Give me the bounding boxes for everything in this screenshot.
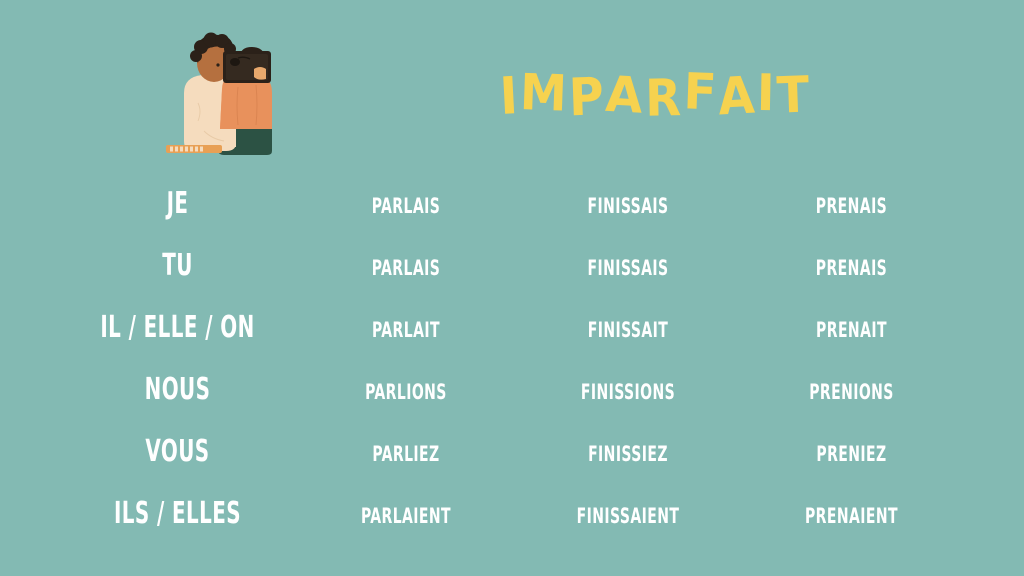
pronoun-cell: ILS / ELLES — [81, 496, 274, 531]
tablet-screen-shape-a — [230, 58, 240, 66]
parler-cell: parlais — [315, 248, 497, 283]
finir-cell: finissais — [537, 186, 719, 221]
prendre-cell: prenaient — [759, 496, 944, 531]
right-hand — [254, 67, 266, 80]
finir-cell: finissais — [537, 248, 719, 283]
two-people-with-tablet-illustration — [160, 25, 282, 157]
illustration-svg — [160, 25, 282, 157]
parler-cell: parlions — [315, 372, 497, 407]
prendre-cell: prenait — [759, 310, 944, 345]
hair-curl-e — [190, 50, 202, 62]
pronoun-cell: NOUS — [81, 372, 274, 407]
finir-cell: finissions — [537, 372, 719, 407]
prendre-cell: prenions — [759, 372, 944, 407]
table-row: NOUS parlions finissions prenions — [60, 358, 964, 420]
pronoun-cell: VOUS — [81, 434, 274, 469]
pronoun-cell: TU — [81, 248, 274, 283]
parler-cell: parliez — [315, 434, 497, 469]
pronoun-cell: IL / ELLE / ON — [81, 310, 274, 345]
prendre-cell: preniez — [759, 434, 944, 469]
book-on-floor — [166, 145, 222, 153]
finir-cell: finissiez — [537, 434, 719, 469]
conjugation-table: JE parlais finissais prenais TU parlais … — [60, 172, 964, 544]
table-row: TU parlais finissais prenais — [60, 234, 964, 296]
parler-cell: parlait — [315, 310, 497, 345]
table-row: ILS / ELLES parlaient finissaient prenai… — [60, 482, 964, 544]
slide-title: IMPARFAIT — [500, 62, 812, 126]
prendre-cell: prenais — [759, 186, 944, 221]
table-row: IL / ELLE / ON parlait finissait prenait — [60, 296, 964, 358]
left-person-eye — [216, 63, 219, 66]
slide-title-text: IMPARFAIT — [500, 65, 812, 122]
prendre-cell: prenais — [759, 248, 944, 283]
finir-cell: finissaient — [537, 496, 719, 531]
slide-canvas: IMPARFAIT JE parlais finissais prenais T… — [0, 0, 1024, 576]
pronoun-cell: JE — [81, 186, 274, 221]
parler-cell: parlaient — [315, 496, 497, 531]
table-row: VOUS parliez finissiez preniez — [60, 420, 964, 482]
finir-cell: finissait — [537, 310, 719, 345]
table-row: JE parlais finissais prenais — [60, 172, 964, 234]
parler-cell: parlais — [315, 186, 497, 221]
